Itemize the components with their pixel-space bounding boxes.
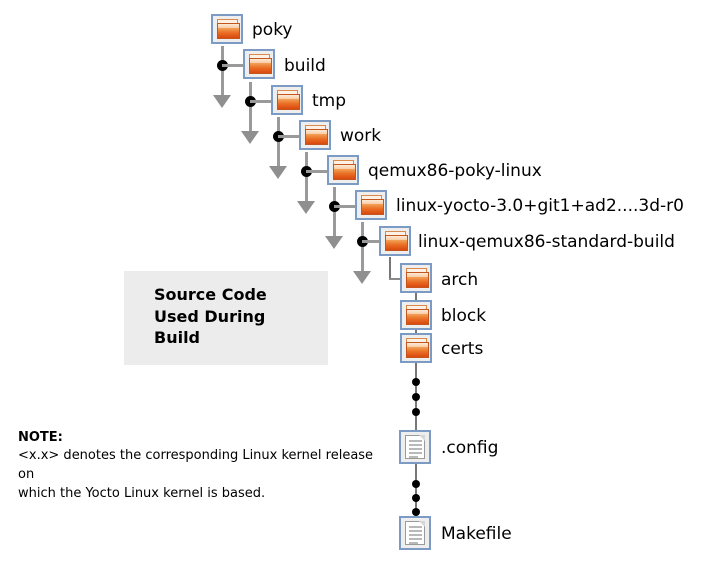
connector-line-work — [305, 152, 308, 204]
callout-text: Source Code Used During Build — [154, 284, 267, 349]
tree-node-label: qemux86-poky-linux — [368, 163, 542, 180]
tree-node-label: Makefile — [441, 526, 512, 543]
folder-icon — [327, 155, 359, 185]
tree-node-label: linux-qemux86-standard-build — [418, 234, 675, 251]
connector-branch-work-qemux86 — [306, 170, 328, 173]
folder-icon — [299, 120, 331, 150]
connector-line-tmp — [277, 117, 280, 169]
folder-icon — [379, 226, 411, 256]
connector-branch-build-tmp — [250, 100, 272, 103]
tree-node-label: arch — [441, 272, 478, 289]
note-title: NOTE: — [18, 430, 378, 447]
file-icon — [399, 516, 431, 550]
connector-branch-poky-build — [222, 64, 244, 67]
connector-arrow-tmp — [269, 166, 287, 179]
ellipsis-dot — [412, 408, 420, 416]
folder-icon — [400, 263, 432, 293]
tree-node-label: .config — [441, 440, 498, 457]
note-block: NOTE: <x.x> denotes the corresponding Li… — [18, 430, 378, 503]
folder-icon — [355, 190, 387, 220]
ellipsis-dot — [412, 393, 420, 401]
folder-icon — [400, 300, 432, 330]
tree-node-label: linux-yocto-3.0+git1+ad2....3d-r0 — [396, 198, 684, 215]
connector-arrow-linuxyocto — [353, 271, 371, 284]
folder-icon — [400, 333, 432, 363]
connector-line-qemux86 — [333, 187, 336, 239]
connector-arrow-poky — [213, 95, 231, 108]
file-icon — [399, 430, 431, 464]
callout-box-source-code: Source Code Used During Build — [124, 271, 328, 365]
ellipsis-dot — [412, 494, 420, 502]
tree-node-label: work — [340, 128, 381, 145]
connector-arrow-qemux86 — [325, 236, 343, 249]
connector-arrow-work — [297, 201, 315, 214]
tree-node-label: tmp — [312, 93, 346, 110]
note-body: <x.x> denotes the corresponding Linux ke… — [18, 447, 378, 504]
ellipsis-dot — [412, 480, 420, 488]
diagram-canvas: poky build tmp work qemux86-poky-linux l… — [0, 0, 705, 581]
connector-elbow-vertical-stdbuild — [389, 257, 391, 280]
connector-line-poky — [221, 46, 224, 98]
folder-icon — [211, 14, 243, 44]
ellipsis-dot — [412, 508, 420, 516]
tree-node-label: build — [284, 58, 326, 75]
connector-line-linuxyocto — [361, 222, 364, 274]
tree-node-label: block — [441, 308, 486, 325]
tree-node-label: poky — [252, 22, 293, 39]
connector-branch-qemux86-linuxyocto — [334, 205, 356, 208]
connector-line-build — [249, 82, 252, 134]
ellipsis-dot — [412, 378, 420, 386]
folder-icon — [271, 85, 303, 115]
tree-node-label: certs — [441, 341, 483, 358]
connector-branch-tmp-work — [278, 135, 300, 138]
folder-icon — [243, 49, 275, 79]
connector-arrow-build — [241, 131, 259, 144]
